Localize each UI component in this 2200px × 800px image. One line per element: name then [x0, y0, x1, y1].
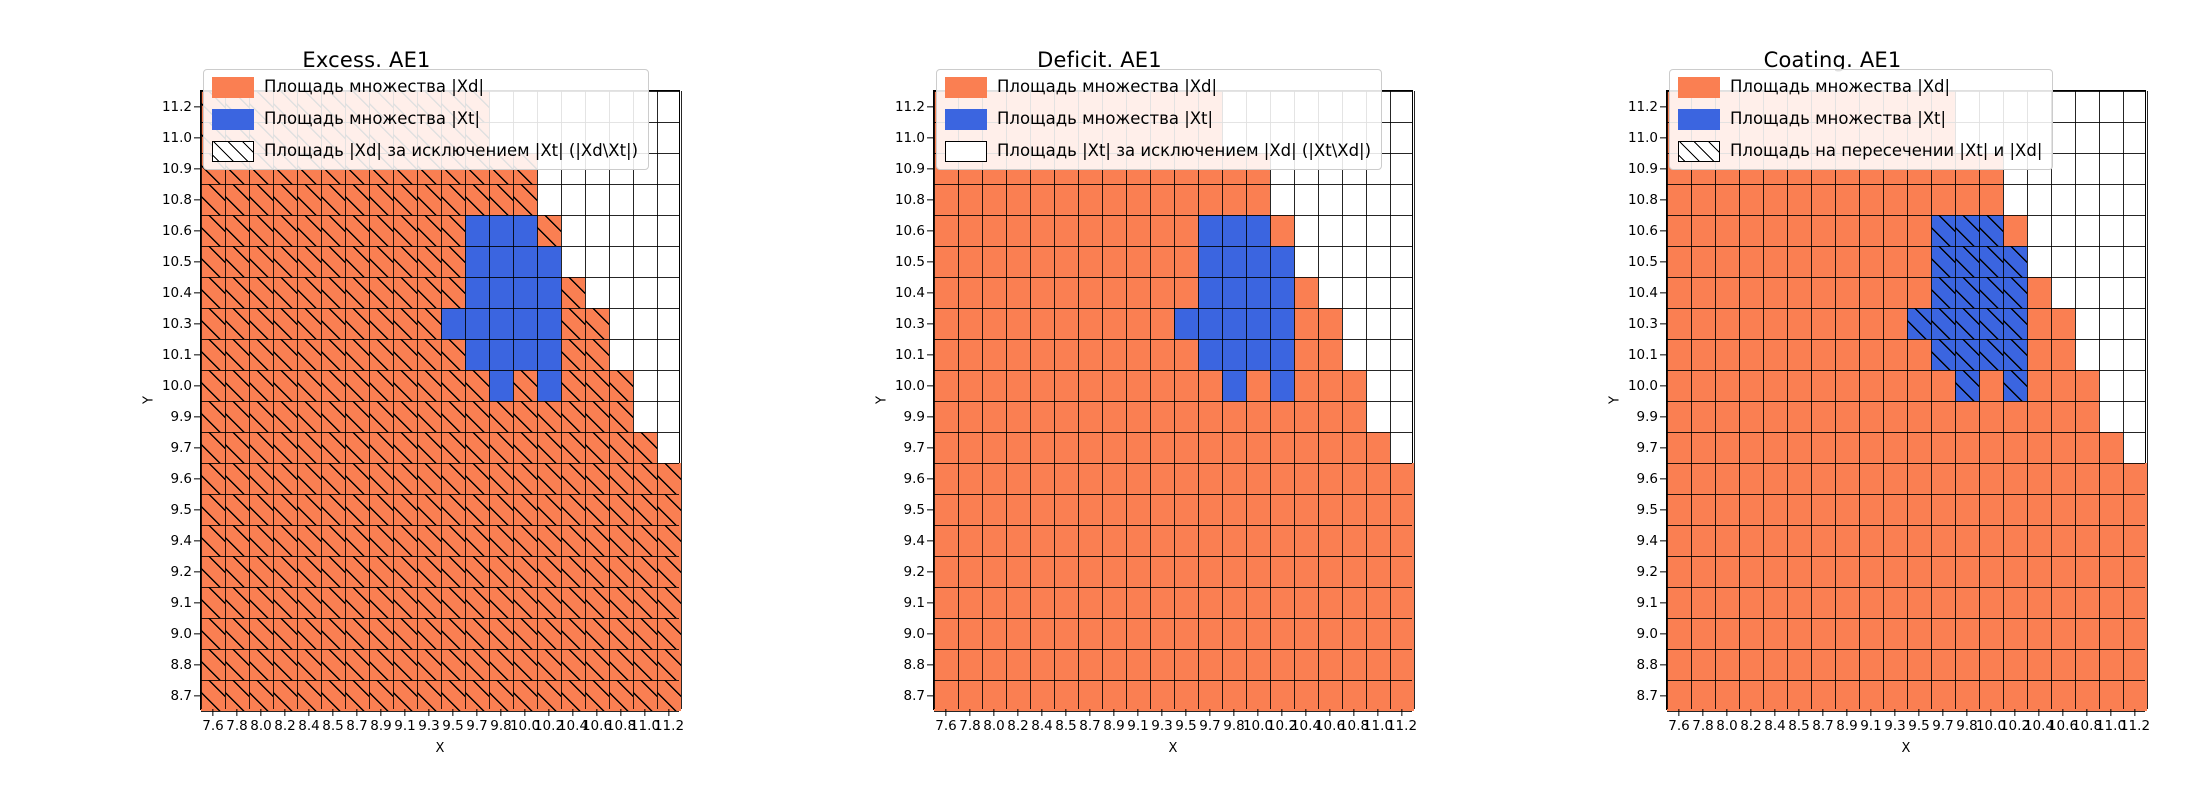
x-tick-label: 8.0 — [250, 718, 271, 734]
x-tick-mark — [1209, 709, 1210, 716]
gridline-horizontal — [1667, 587, 2145, 588]
grid-layer — [1667, 91, 2145, 709]
x-tick-mark — [524, 709, 525, 716]
gridline-horizontal — [1667, 432, 2145, 433]
y-tick-mark — [1660, 106, 1667, 107]
y-tick-mark — [927, 509, 934, 510]
x-tick-label: 8.9 — [370, 718, 391, 734]
legend-swatch-plain-icon — [945, 141, 987, 162]
y-tick-mark — [194, 695, 201, 696]
x-tick-mark — [1041, 709, 1042, 716]
y-axis-label: Y — [875, 396, 890, 404]
gridline-horizontal — [201, 618, 679, 619]
x-tick-mark — [1750, 709, 1751, 716]
legend-label: Площадь на пересечении |Xt| и |Xd| — [1730, 143, 2042, 160]
x-tick-mark — [1137, 709, 1138, 716]
x-tick-mark — [644, 709, 645, 716]
y-tick-mark — [1660, 230, 1667, 231]
legend-item[interactable]: Площадь множества |Xt| — [945, 109, 1371, 130]
x-tick-label: 11.2 — [2120, 718, 2150, 734]
y-tick-label: 10.9 — [162, 161, 192, 177]
x-tick-mark — [404, 709, 405, 716]
y-tick-label: 9.4 — [171, 533, 192, 549]
y-tick-mark — [1660, 354, 1667, 355]
y-tick-mark — [194, 261, 201, 262]
x-tick-label: 9.8 — [1223, 718, 1244, 734]
x-tick-label: 8.4 — [298, 718, 319, 734]
x-tick-label: 9.3 — [1151, 718, 1172, 734]
gridline-horizontal — [201, 370, 679, 371]
gridline-horizontal — [934, 184, 1412, 185]
y-tick-mark — [927, 323, 934, 324]
x-tick-mark — [596, 709, 597, 716]
y-tick-mark — [194, 230, 201, 231]
y-tick-label: 10.1 — [1628, 347, 1658, 363]
legend-label: Площадь множества |Xt| — [264, 111, 480, 128]
x-tick-label: 9.1 — [1127, 718, 1148, 734]
legend-item[interactable]: Площадь множества |Xt| — [212, 109, 638, 130]
x-tick-label: 7.6 — [935, 718, 956, 734]
y-tick-mark — [927, 540, 934, 541]
x-tick-mark — [2086, 709, 2087, 716]
gridline-horizontal — [934, 587, 1412, 588]
x-tick-mark — [1233, 709, 1234, 716]
gridline-horizontal — [934, 556, 1412, 557]
gridline-horizontal — [201, 680, 679, 681]
y-tick-label: 9.2 — [904, 564, 925, 580]
gridline-horizontal — [201, 215, 679, 216]
y-tick-mark — [194, 664, 201, 665]
x-tick-mark — [1113, 709, 1114, 716]
y-tick-mark — [194, 540, 201, 541]
gridline-horizontal — [934, 649, 1412, 650]
y-tick-label: 10.1 — [895, 347, 925, 363]
legend-swatch-orange-icon — [212, 77, 254, 98]
y-tick-label: 9.7 — [171, 440, 192, 456]
y-tick-mark — [927, 571, 934, 572]
gridline-horizontal — [934, 494, 1412, 495]
y-tick-mark — [194, 354, 201, 355]
x-tick-mark — [2038, 709, 2039, 716]
y-tick-label: 9.0 — [1637, 626, 1658, 642]
x-tick-label: 8.7 — [346, 718, 367, 734]
gridline-horizontal — [934, 277, 1412, 278]
grid-layer — [934, 91, 1412, 709]
y-tick-label: 10.6 — [895, 223, 925, 239]
gridline-horizontal — [934, 339, 1412, 340]
gridline-horizontal — [1667, 525, 2145, 526]
y-tick-mark — [927, 137, 934, 138]
x-tick-label: 8.5 — [1788, 718, 1809, 734]
y-tick-mark — [1660, 385, 1667, 386]
legend: Площадь множества |Xd|Площадь множества … — [203, 69, 649, 170]
y-tick-mark — [194, 416, 201, 417]
x-tick-label: 8.7 — [1812, 718, 1833, 734]
y-tick-label: 9.7 — [1637, 440, 1658, 456]
x-tick-mark — [1822, 709, 1823, 716]
y-tick-mark — [194, 199, 201, 200]
y-tick-mark — [194, 571, 201, 572]
x-tick-mark — [1161, 709, 1162, 716]
x-tick-mark — [284, 709, 285, 716]
y-tick-label: 8.8 — [171, 657, 192, 673]
y-tick-mark — [927, 354, 934, 355]
y-tick-mark — [927, 602, 934, 603]
x-tick-label: 7.8 — [959, 718, 980, 734]
x-axis-label: X — [934, 741, 1412, 756]
gridline-horizontal — [1667, 339, 2145, 340]
x-tick-label: 8.0 — [983, 718, 1004, 734]
y-tick-mark — [194, 323, 201, 324]
x-tick-label: 9.1 — [1860, 718, 1881, 734]
gridline-horizontal — [1667, 215, 2145, 216]
y-tick-mark — [1660, 509, 1667, 510]
legend-item[interactable]: Площадь множества |Xd| — [945, 77, 1371, 98]
legend-swatch-blue-icon — [1678, 109, 1720, 130]
y-tick-mark — [1660, 571, 1667, 572]
gridline-horizontal — [934, 308, 1412, 309]
gridline-vertical — [681, 91, 682, 709]
x-tick-mark — [1353, 709, 1354, 716]
y-tick-mark — [927, 447, 934, 448]
gridline-horizontal — [934, 680, 1412, 681]
gridline-horizontal — [201, 432, 679, 433]
gridline-horizontal — [201, 463, 679, 464]
x-tick-label: 9.3 — [1884, 718, 1905, 734]
y-tick-label: 10.8 — [1628, 192, 1658, 208]
x-tick-label: 8.7 — [1079, 718, 1100, 734]
x-axis-label: X — [1667, 741, 2145, 756]
x-tick-label: 8.4 — [1764, 718, 1785, 734]
y-tick-mark — [927, 478, 934, 479]
x-tick-mark — [1942, 709, 1943, 716]
x-tick-mark — [500, 709, 501, 716]
y-tick-label: 11.0 — [1628, 130, 1658, 146]
x-tick-label: 9.5 — [442, 718, 463, 734]
gridline-horizontal — [201, 525, 679, 526]
gridline-horizontal — [1667, 494, 2145, 495]
x-tick-label: 9.5 — [1175, 718, 1196, 734]
y-tick-label: 8.7 — [171, 688, 192, 704]
y-tick-label: 9.6 — [904, 471, 925, 487]
gridline-horizontal — [1667, 184, 2145, 185]
y-tick-label: 10.0 — [1628, 378, 1658, 394]
figure-canvas: Excess. AE1 11.211.010.910.810.610.510.4… — [0, 0, 2200, 800]
y-tick-mark — [1660, 323, 1667, 324]
gridline-horizontal — [934, 463, 1412, 464]
x-tick-mark — [380, 709, 381, 716]
x-tick-label: 7.6 — [202, 718, 223, 734]
gridline-horizontal — [1667, 370, 2145, 371]
gridline-horizontal — [201, 308, 679, 309]
x-tick-label: 9.8 — [490, 718, 511, 734]
y-tick-label: 9.0 — [904, 626, 925, 642]
legend-label: Площадь |Xt| за исключением |Xd| (|Xt\Xd… — [997, 143, 1371, 160]
y-tick-label: 9.1 — [1637, 595, 1658, 611]
y-tick-label: 9.1 — [904, 595, 925, 611]
y-tick-mark — [194, 106, 201, 107]
x-tick-label: 9.7 — [1199, 718, 1220, 734]
y-tick-mark — [194, 137, 201, 138]
gridline-horizontal — [201, 184, 679, 185]
y-tick-label: 10.4 — [1628, 285, 1658, 301]
y-tick-label: 9.4 — [1637, 533, 1658, 549]
y-tick-mark — [194, 168, 201, 169]
x-tick-label: 7.8 — [1692, 718, 1713, 734]
y-tick-label: 10.5 — [162, 254, 192, 270]
legend-swatch-orange-icon — [945, 77, 987, 98]
x-tick-mark — [1966, 709, 1967, 716]
y-tick-label: 10.6 — [162, 223, 192, 239]
legend-label: Площадь |Xd| за исключением |Xt| (|Xd\Xt… — [264, 143, 638, 160]
y-tick-label: 10.3 — [1628, 316, 1658, 332]
x-tick-mark — [1678, 709, 1679, 716]
x-tick-mark — [2014, 709, 2015, 716]
legend-item[interactable]: Площадь множества |Xt| — [1678, 109, 2042, 130]
x-tick-label: 11.2 — [654, 718, 684, 734]
y-tick-mark — [1660, 664, 1667, 665]
y-tick-label: 10.4 — [895, 285, 925, 301]
y-tick-label: 10.1 — [162, 347, 192, 363]
y-tick-label: 9.9 — [171, 409, 192, 425]
x-tick-mark — [1846, 709, 1847, 716]
y-tick-label: 9.2 — [171, 564, 192, 580]
legend: Площадь множества |Xd|Площадь множества … — [1669, 69, 2053, 170]
x-tick-mark — [548, 709, 549, 716]
y-tick-label: 10.6 — [1628, 223, 1658, 239]
x-tick-mark — [260, 709, 261, 716]
legend-item[interactable]: Площадь на пересечении |Xt| и |Xd| — [1678, 141, 2042, 162]
panel-deficit: Deficit. AE1 11.211.010.910.810.610.510.… — [733, 0, 1466, 800]
y-tick-label: 10.0 — [162, 378, 192, 394]
gridline-horizontal — [201, 711, 679, 712]
y-tick-label: 10.5 — [895, 254, 925, 270]
y-tick-mark — [1660, 602, 1667, 603]
legend-label: Площадь множества |Xd| — [997, 79, 1217, 96]
x-tick-mark — [452, 709, 453, 716]
gridline-horizontal — [201, 649, 679, 650]
y-tick-label: 10.4 — [162, 285, 192, 301]
y-tick-label: 9.0 — [171, 626, 192, 642]
legend-swatch-orange-icon — [1678, 77, 1720, 98]
y-tick-mark — [1660, 447, 1667, 448]
legend-item[interactable]: Площадь |Xd| за исключением |Xt| (|Xd\Xt… — [212, 141, 638, 162]
x-tick-label: 8.2 — [274, 718, 295, 734]
y-axis-label: Y — [1608, 396, 1623, 404]
x-tick-label: 8.4 — [1031, 718, 1052, 734]
legend-label: Площадь множества |Xd| — [264, 79, 484, 96]
y-tick-mark — [927, 664, 934, 665]
gridline-horizontal — [934, 432, 1412, 433]
x-tick-label: 8.0 — [1716, 718, 1737, 734]
x-tick-mark — [1798, 709, 1799, 716]
x-tick-mark — [1017, 709, 1018, 716]
gridline-horizontal — [1667, 556, 2145, 557]
x-tick-mark — [1774, 709, 1775, 716]
gridline-horizontal — [934, 525, 1412, 526]
x-tick-mark — [1726, 709, 1727, 716]
gridline-horizontal — [934, 401, 1412, 402]
x-tick-mark — [1185, 709, 1186, 716]
y-tick-mark — [927, 168, 934, 169]
y-tick-label: 9.9 — [1637, 409, 1658, 425]
x-tick-label: 8.2 — [1740, 718, 1761, 734]
y-tick-label: 10.9 — [1628, 161, 1658, 177]
y-tick-label: 8.7 — [1637, 688, 1658, 704]
x-tick-label: 9.3 — [418, 718, 439, 734]
gridline-horizontal — [201, 494, 679, 495]
gridline-vertical — [2147, 91, 2148, 709]
y-tick-label: 8.8 — [904, 657, 925, 673]
x-tick-mark — [1089, 709, 1090, 716]
y-tick-label: 11.2 — [162, 99, 192, 115]
x-tick-mark — [1894, 709, 1895, 716]
y-tick-label: 9.1 — [171, 595, 192, 611]
x-tick-label: 9.1 — [394, 718, 415, 734]
x-tick-mark — [1065, 709, 1066, 716]
legend-label: Площадь множества |Xt| — [997, 111, 1213, 128]
legend-swatch-hatch-icon — [1678, 141, 1720, 162]
x-tick-label: 7.8 — [226, 718, 247, 734]
y-tick-label: 11.0 — [162, 130, 192, 146]
y-tick-mark — [1660, 416, 1667, 417]
y-tick-mark — [927, 261, 934, 262]
y-tick-label: 10.8 — [895, 192, 925, 208]
x-tick-label: 11.2 — [1387, 718, 1417, 734]
x-tick-mark — [620, 709, 621, 716]
y-tick-mark — [1660, 695, 1667, 696]
y-tick-mark — [927, 199, 934, 200]
x-tick-mark — [993, 709, 994, 716]
x-tick-mark — [969, 709, 970, 716]
gridline-horizontal — [934, 618, 1412, 619]
y-tick-mark — [1660, 292, 1667, 293]
y-tick-label: 8.7 — [904, 688, 925, 704]
x-tick-mark — [1918, 709, 1919, 716]
legend: Площадь множества |Xd|Площадь множества … — [936, 69, 1382, 170]
gridline-horizontal — [1667, 618, 2145, 619]
x-tick-mark — [1702, 709, 1703, 716]
panel-coating: Coating. AE1 11.211.010.910.810.610.510.… — [1466, 0, 2199, 800]
gridline-horizontal — [934, 370, 1412, 371]
legend-swatch-blue-icon — [945, 109, 987, 130]
axes-deficit: 11.211.010.910.810.610.510.410.310.110.0… — [933, 90, 1413, 710]
gridline-horizontal — [934, 711, 1412, 712]
x-tick-mark — [332, 709, 333, 716]
legend-label: Площадь множества |Xt| — [1730, 111, 1946, 128]
panel-excess: Excess. AE1 11.211.010.910.810.610.510.4… — [0, 0, 733, 800]
y-tick-mark — [927, 695, 934, 696]
y-tick-label: 9.9 — [904, 409, 925, 425]
y-tick-label: 10.8 — [162, 192, 192, 208]
legend-swatch-blue-icon — [212, 109, 254, 130]
x-tick-label: 8.9 — [1103, 718, 1124, 734]
y-tick-mark — [194, 602, 201, 603]
y-tick-label: 11.2 — [895, 99, 925, 115]
legend-label: Площадь множества |Xd| — [1730, 79, 1950, 96]
y-tick-mark — [927, 292, 934, 293]
x-tick-label: 9.7 — [466, 718, 487, 734]
x-tick-mark — [308, 709, 309, 716]
x-tick-label: 9.5 — [1908, 718, 1929, 734]
y-tick-mark — [194, 478, 201, 479]
y-tick-mark — [1660, 137, 1667, 138]
x-tick-mark — [1305, 709, 1306, 716]
gridline-horizontal — [1667, 680, 2145, 681]
x-tick-mark — [2062, 709, 2063, 716]
y-tick-mark — [1660, 261, 1667, 262]
x-tick-mark — [212, 709, 213, 716]
axes-coating: 11.211.010.910.810.610.510.410.310.110.0… — [1666, 90, 2146, 710]
legend-item[interactable]: Площадь множества |Xd| — [1678, 77, 2042, 98]
y-tick-mark — [1660, 540, 1667, 541]
y-tick-label: 9.5 — [1637, 502, 1658, 518]
x-tick-label: 8.2 — [1007, 718, 1028, 734]
y-tick-label: 10.3 — [895, 316, 925, 332]
y-tick-label: 11.0 — [895, 130, 925, 146]
x-tick-label: 7.6 — [1668, 718, 1689, 734]
x-tick-mark — [1281, 709, 1282, 716]
y-tick-label: 11.2 — [1628, 99, 1658, 115]
x-tick-mark — [1377, 709, 1378, 716]
x-tick-mark — [2134, 709, 2135, 716]
x-tick-mark — [1990, 709, 1991, 716]
gridline-horizontal — [201, 587, 679, 588]
gridline-horizontal — [934, 215, 1412, 216]
legend-item[interactable]: Площадь множества |Xd| — [212, 77, 638, 98]
gridline-horizontal — [1667, 711, 2145, 712]
gridline-horizontal — [934, 246, 1412, 247]
gridline-horizontal — [1667, 308, 2145, 309]
y-tick-mark — [194, 385, 201, 386]
x-tick-label: 8.5 — [322, 718, 343, 734]
y-tick-mark — [1660, 168, 1667, 169]
x-axis-label: X — [201, 741, 679, 756]
x-tick-mark — [356, 709, 357, 716]
y-tick-mark — [927, 633, 934, 634]
x-tick-mark — [428, 709, 429, 716]
y-axis-label: Y — [142, 396, 157, 404]
x-tick-label: 9.7 — [1932, 718, 1953, 734]
x-tick-mark — [476, 709, 477, 716]
y-tick-mark — [194, 292, 201, 293]
y-tick-mark — [1660, 633, 1667, 634]
y-tick-label: 10.3 — [162, 316, 192, 332]
y-tick-mark — [194, 509, 201, 510]
gridline-horizontal — [1667, 401, 2145, 402]
y-tick-label: 10.0 — [895, 378, 925, 394]
x-tick-mark — [1329, 709, 1330, 716]
x-tick-mark — [1401, 709, 1402, 716]
y-tick-mark — [194, 447, 201, 448]
y-tick-label: 8.8 — [1637, 657, 1658, 673]
grid-layer — [201, 91, 679, 709]
y-tick-label: 10.9 — [895, 161, 925, 177]
y-tick-label: 9.2 — [1637, 564, 1658, 580]
y-tick-mark — [1660, 199, 1667, 200]
y-tick-mark — [927, 230, 934, 231]
y-tick-mark — [1660, 478, 1667, 479]
gridline-horizontal — [201, 339, 679, 340]
y-tick-label: 9.5 — [904, 502, 925, 518]
axes-excess: 11.211.010.910.810.610.510.410.310.110.0… — [200, 90, 680, 710]
y-tick-mark — [927, 385, 934, 386]
x-tick-mark — [236, 709, 237, 716]
gridline-horizontal — [201, 556, 679, 557]
y-tick-label: 9.4 — [904, 533, 925, 549]
legend-item[interactable]: Площадь |Xt| за исключением |Xd| (|Xt\Xd… — [945, 141, 1371, 162]
gridline-horizontal — [1667, 246, 2145, 247]
